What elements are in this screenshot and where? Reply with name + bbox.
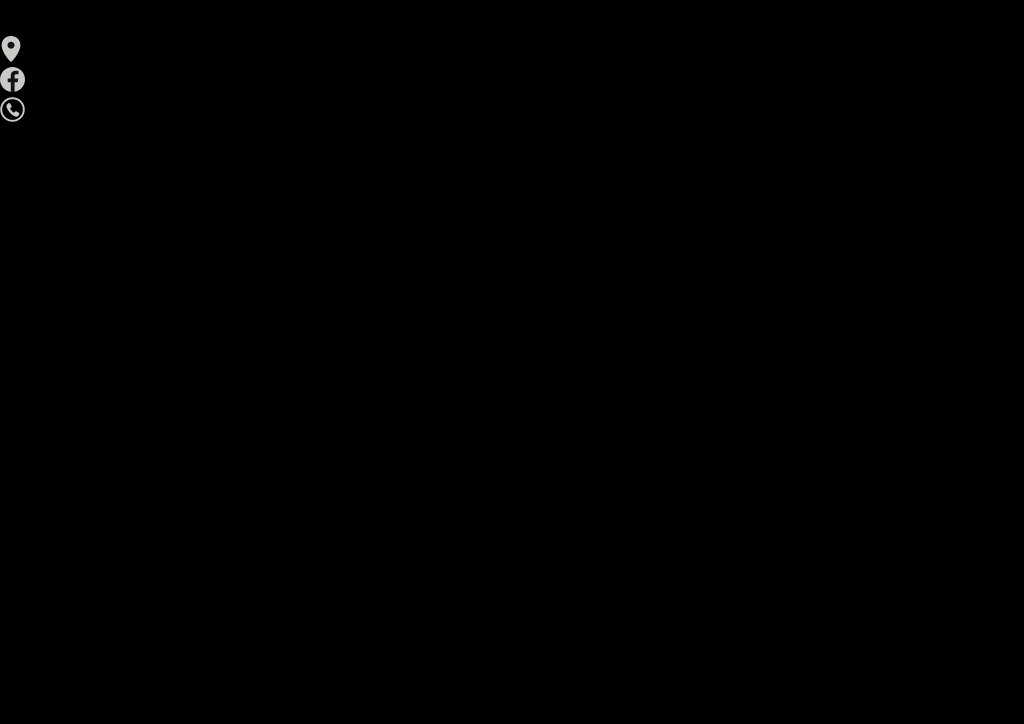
background-vignette xyxy=(0,0,1024,724)
planning-poster: ETUAHI - PLANNING 2024/2025 'ORI TAHITI … xyxy=(0,0,1024,724)
